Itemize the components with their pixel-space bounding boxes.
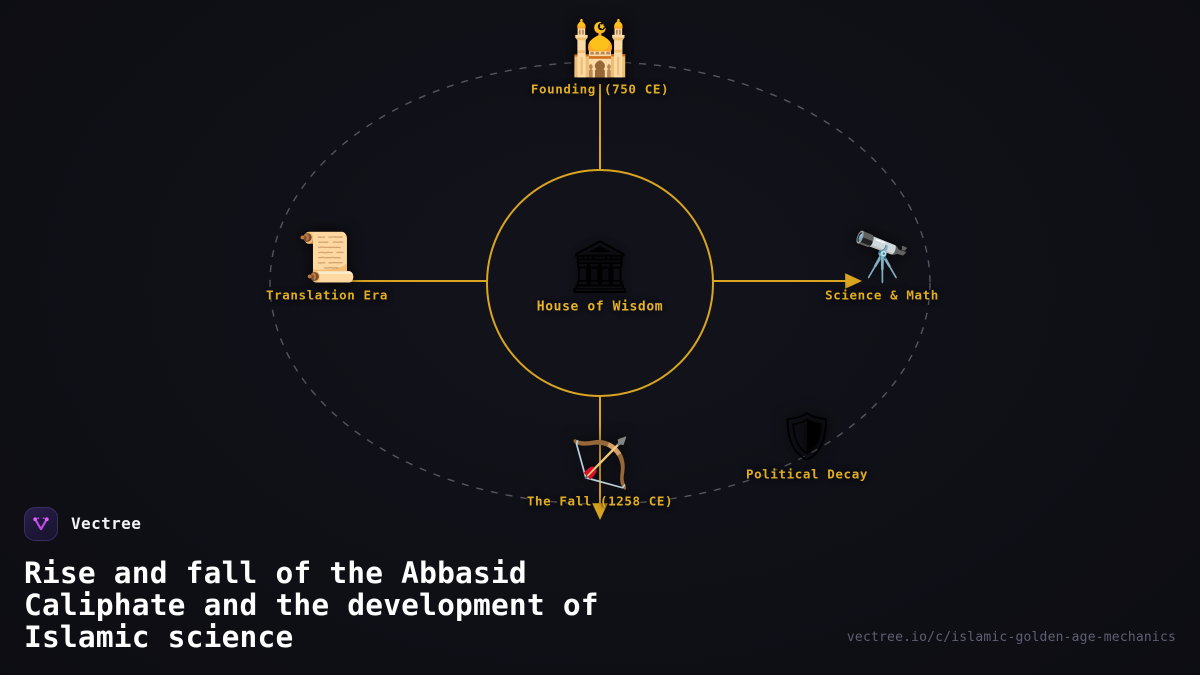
source-url: vectree.io/c/islamic-golden-age-mechanic… <box>847 630 1176 645</box>
node-label: House of Wisdom <box>537 300 663 315</box>
node-label: Translation Era <box>266 288 388 303</box>
vectree-logo-icon <box>24 507 58 541</box>
bow-and-arrow-icon: 🏹 <box>527 440 673 488</box>
telescope-icon: 🔭 <box>825 234 939 282</box>
node-political-decay[interactable]: 🛡 Political Decay <box>746 413 868 482</box>
node-founding[interactable]: 🕌 Founding (750 CE) <box>531 24 669 97</box>
node-science-and-math[interactable]: 🔭 Science & Math <box>825 234 939 303</box>
shield-icon: 🛡 <box>746 413 868 461</box>
node-label: Science & Math <box>825 288 939 303</box>
poster-headline: Rise and fall of the Abbasid Caliphate a… <box>24 557 784 653</box>
brand-lockup: Vectree <box>24 507 1176 541</box>
poster-canvas: 🏛 House of Wisdom 🕌 Founding (750 CE) 📜 … <box>0 0 1200 675</box>
classical-building-icon: 🏛 <box>537 242 663 294</box>
mosque-icon: 🕌 <box>531 24 669 76</box>
node-translation-era[interactable]: 📜 Translation Era <box>266 234 388 303</box>
node-label: Political Decay <box>746 467 868 482</box>
node-house-of-wisdom[interactable]: 🏛 House of Wisdom <box>537 242 663 315</box>
brand-name: Vectree <box>71 514 141 533</box>
scroll-icon: 📜 <box>266 234 388 282</box>
node-label: Founding (750 CE) <box>531 82 669 97</box>
node-the-fall[interactable]: 🏹 The Fall (1258 CE) <box>527 440 673 509</box>
